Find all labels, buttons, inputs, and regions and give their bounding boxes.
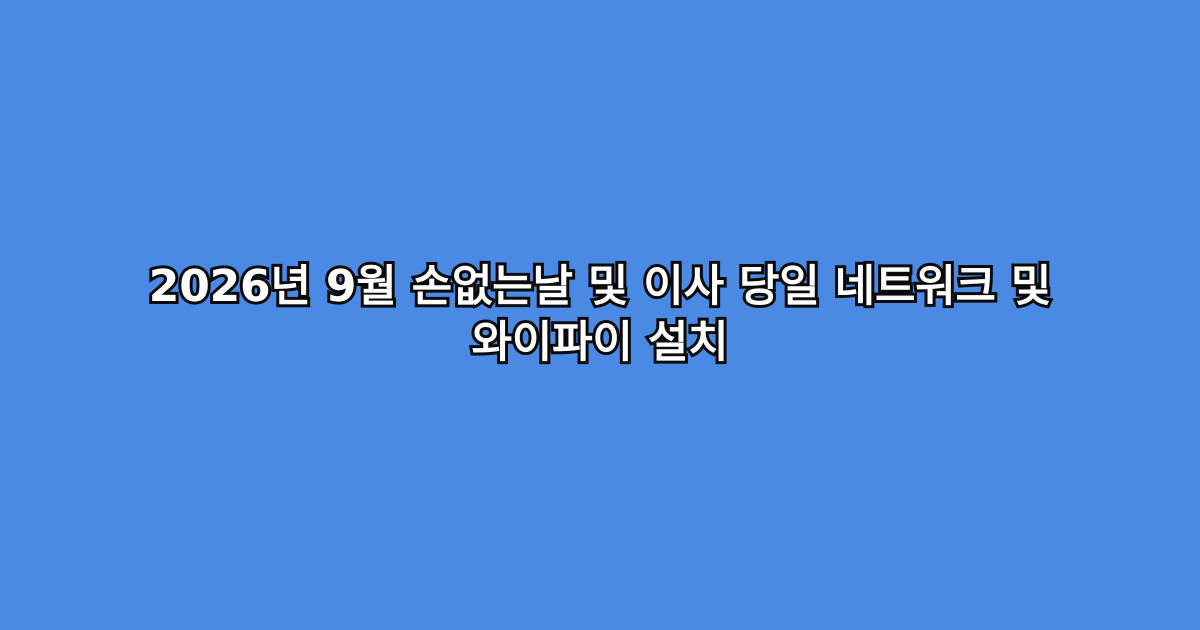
og-card-canvas: 2026년 9월 손없는날 및 이사 당일 네트워크 및 와이파이 설치 bbox=[0, 0, 1200, 630]
page-title: 2026년 9월 손없는날 및 이사 당일 네트워크 및 와이파이 설치 bbox=[80, 259, 1120, 371]
headline-line-1: 2026년 9월 손없는날 및 이사 당일 네트워크 및 bbox=[80, 259, 1120, 315]
headline-line-2: 와이파이 설치 bbox=[80, 315, 1120, 371]
